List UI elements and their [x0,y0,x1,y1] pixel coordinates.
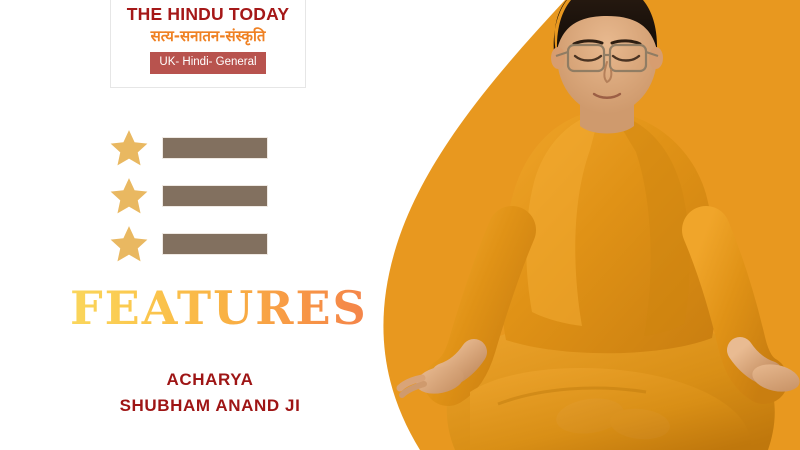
poster-canvas: THE HINDU TODAY सत्य-सनातन-संस्कृति UK- … [0,0,800,450]
list-item [108,124,288,172]
list-item [108,172,288,220]
speaker-name-line-2: SHUBHAM ANAND JI [60,393,360,419]
list-item-bar [162,185,268,207]
brand-category-badge: UK- Hindi- General [150,52,265,75]
brand-subtitle: सत्य-सनातन-संस्कृति [151,27,266,47]
star-icon [108,127,150,169]
speaker-name-line-1: ACHARYA [60,367,360,393]
speaker-name: ACHARYA SHUBHAM ANAND JI [60,367,360,420]
feature-list [108,124,288,268]
brand-title: THE HINDU TODAY [127,4,289,24]
list-item-bar [162,233,268,255]
brand-card: THE HINDU TODAY सत्य-सनातन-संस्कृति UK- … [110,0,306,88]
list-item [108,220,288,268]
list-item-bar [162,137,268,159]
headline-features: FEATURES [70,285,368,331]
star-icon [108,223,150,265]
star-icon [108,175,150,217]
